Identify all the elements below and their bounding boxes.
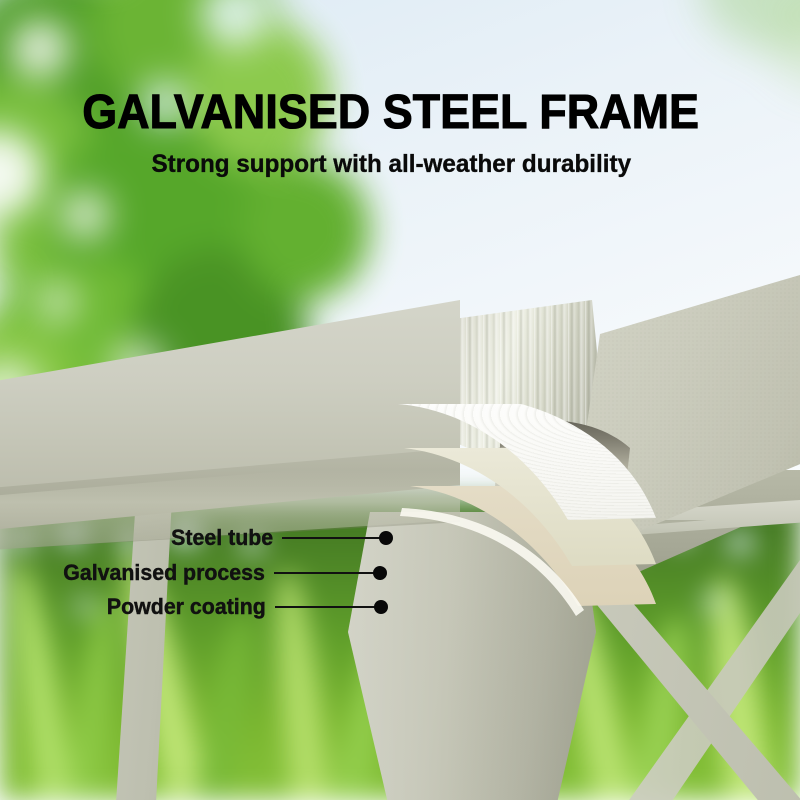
callout-label-galvanised-process: Galvanised process <box>63 561 265 585</box>
callout-label-powder-coating: Powder coating <box>107 595 266 619</box>
leader-dot-powder-coating <box>374 600 388 614</box>
callout-steel-tube: Steel tube <box>168 526 393 550</box>
leader-dot-galvanised-process <box>373 566 387 580</box>
product-feature-image: GALVANISED STEEL FRAME Strong support wi… <box>0 0 800 800</box>
leader-line-galvanised-process <box>274 572 374 574</box>
leader-line-powder-coating <box>275 606 375 608</box>
title-block: GALVANISED STEEL FRAME Strong support wi… <box>0 88 800 179</box>
callout-label-steel-tube: Steel tube <box>171 526 273 550</box>
leader-line-steel-tube <box>282 537 380 539</box>
callout-galvanised-process: Galvanised process <box>57 561 387 585</box>
page-title: GALVANISED STEEL FRAME <box>28 88 772 138</box>
page-subtitle: Strong support with all-weather durabili… <box>12 149 788 179</box>
leader-dot-steel-tube <box>379 531 393 545</box>
callout-powder-coating: Powder coating <box>102 595 388 619</box>
